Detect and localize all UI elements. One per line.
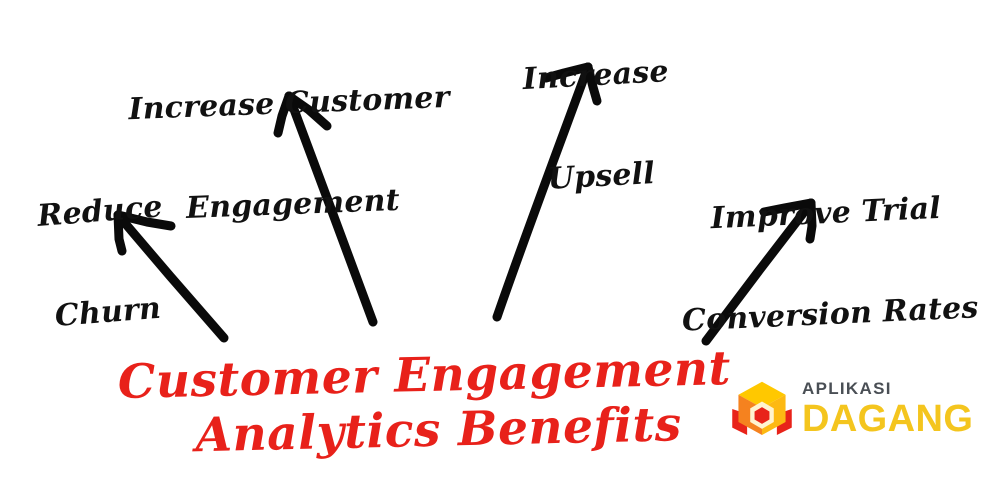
benefit-line-2: Churn	[17, 289, 199, 337]
benefit-line-2: Conversion Rates	[674, 291, 987, 339]
brand-name-top: APLIKASI	[802, 380, 973, 397]
brand-name-bottom: DAGANG	[802, 400, 973, 438]
benefit-line-1: Improve Trial	[669, 190, 982, 238]
benefit-line-1: Increase	[492, 54, 699, 99]
benefit-line-1: Increase Customer	[124, 81, 455, 127]
poster-canvas: Reduce Churn Increase Customer Engagemen…	[0, 0, 1000, 500]
page-title: Customer Engagement Analytics Benefits	[109, 341, 741, 466]
benefit-label-increase-engagement: Increase Customer Engagement	[121, 14, 461, 295]
brand-wordmark: APLIKASI DAGANG	[802, 380, 973, 438]
benefit-line-2: Engagement	[127, 182, 458, 228]
hexagon-cube-logo-icon	[731, 378, 793, 440]
aplikasi-dagang-logo: APLIKASI DAGANG	[731, 374, 963, 444]
